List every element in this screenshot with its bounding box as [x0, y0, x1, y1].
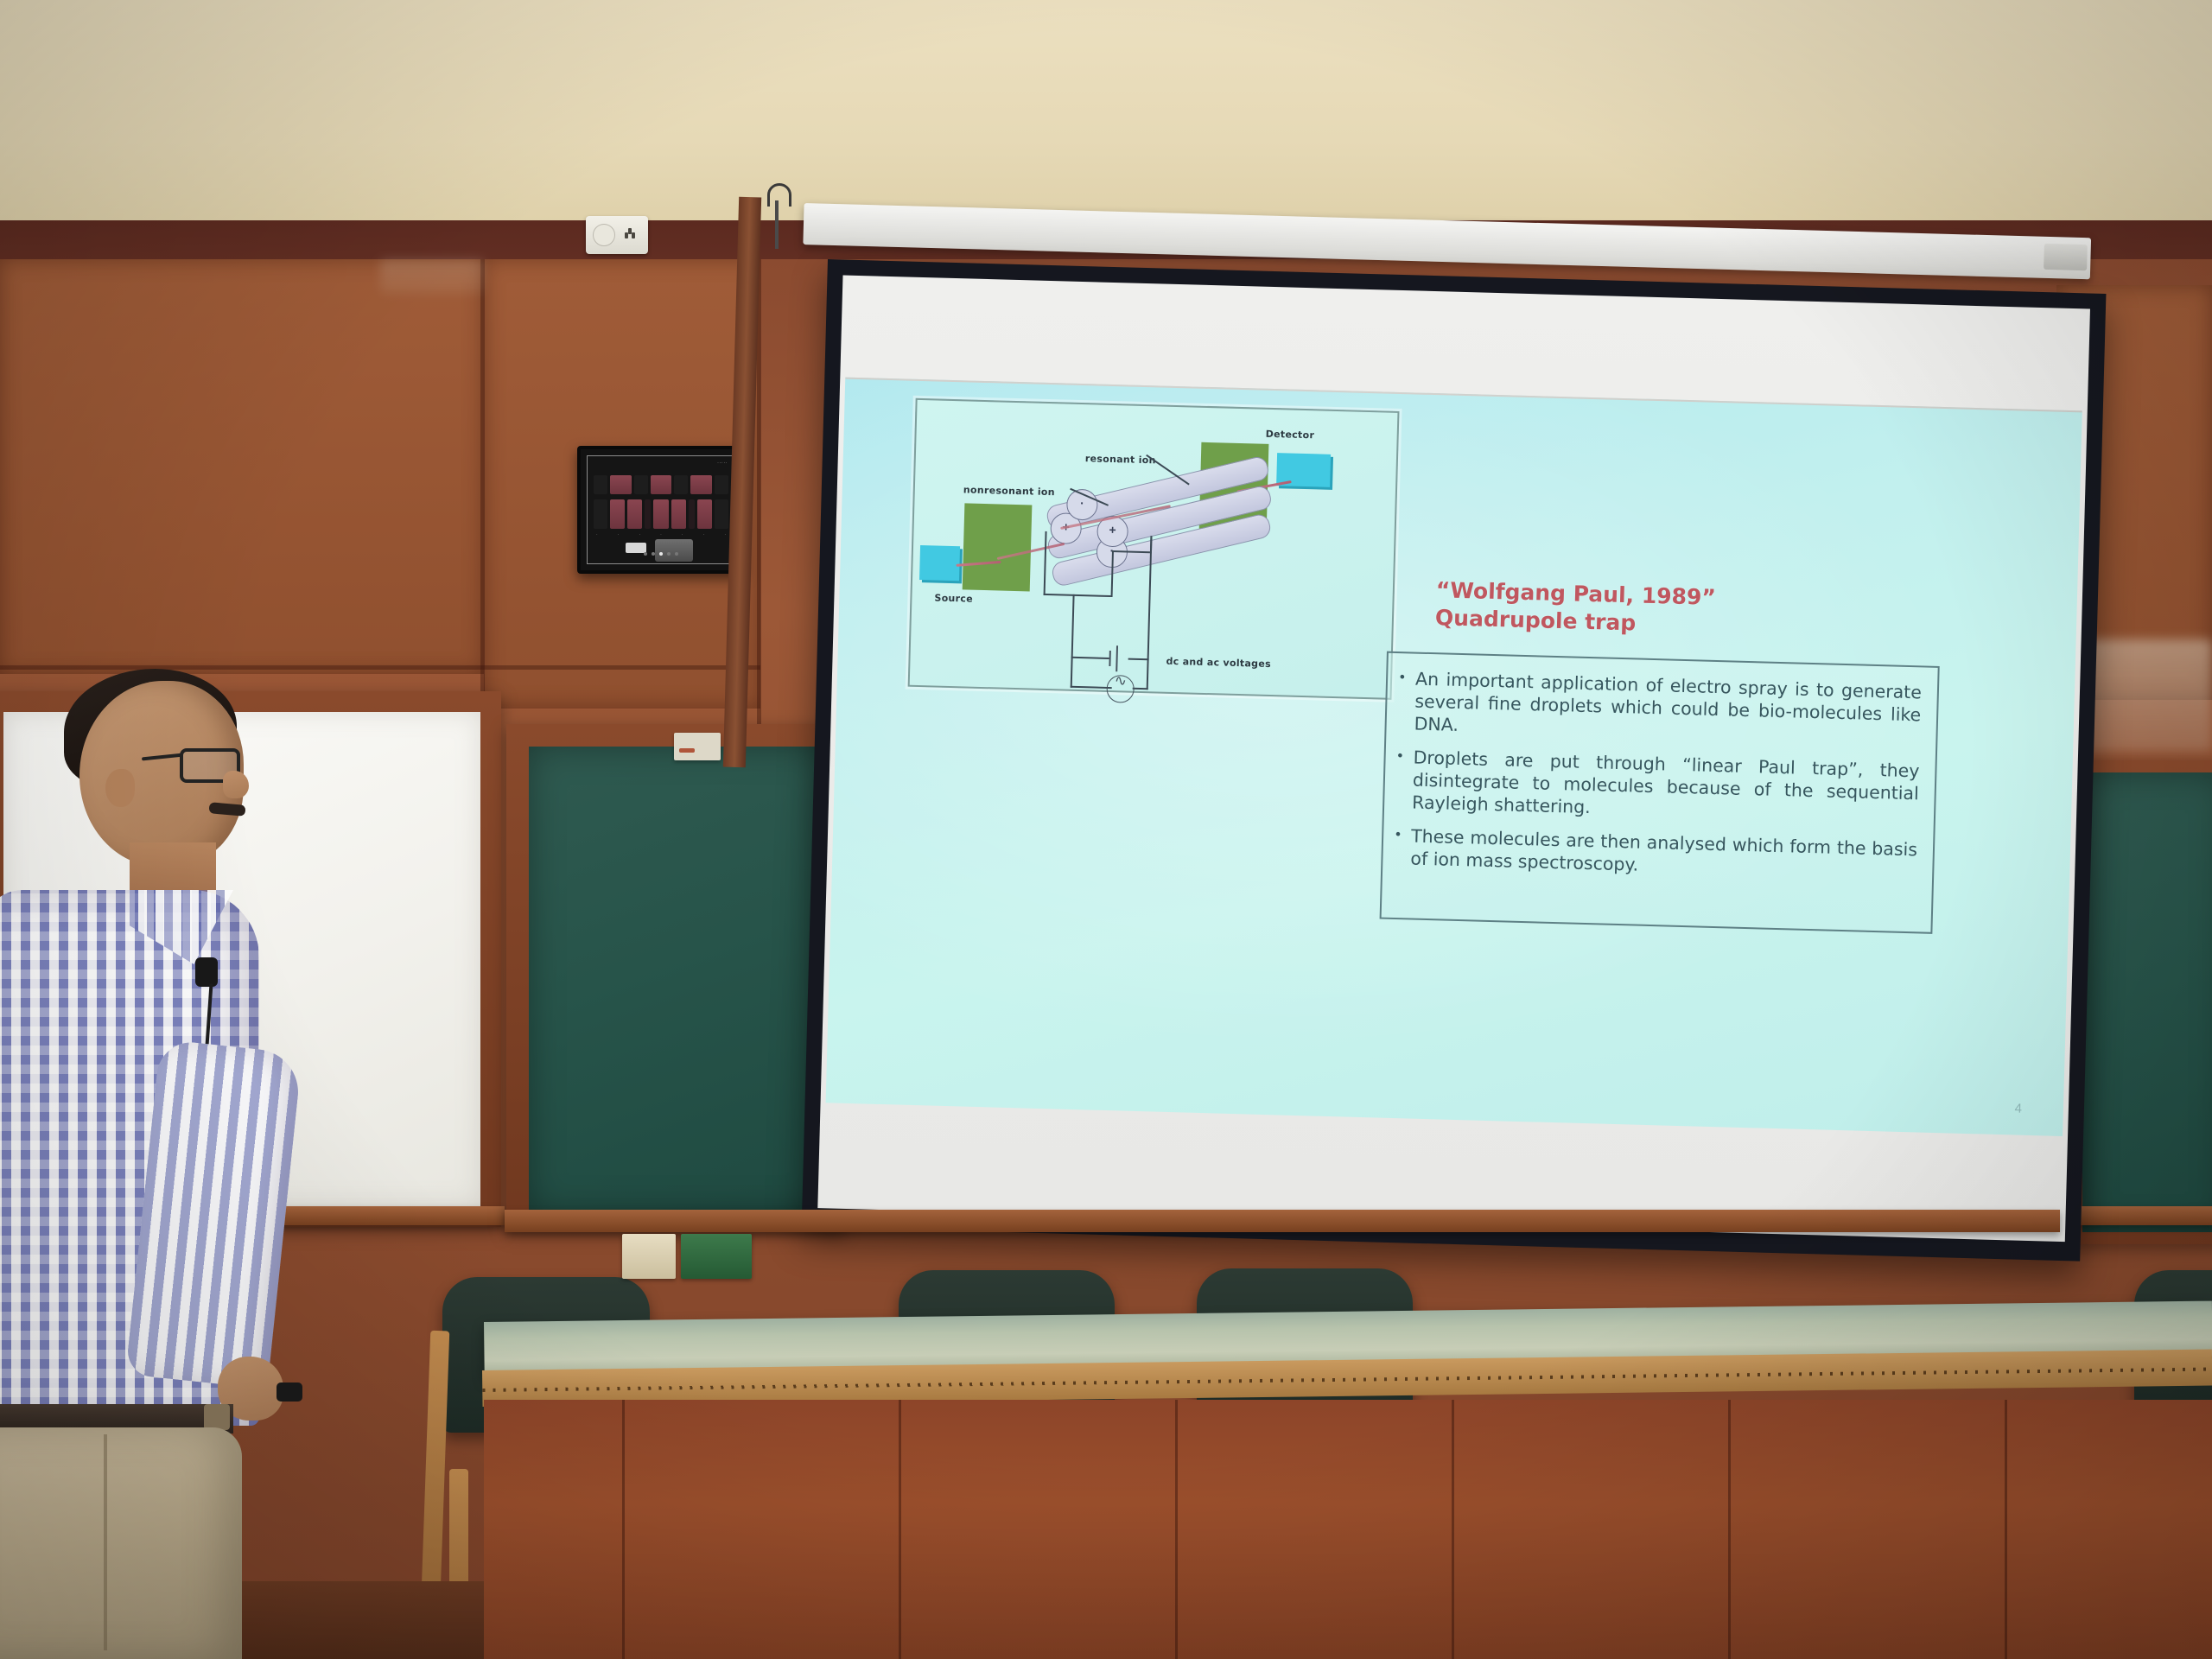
timer-main-button[interactable]: [655, 539, 693, 562]
podium-front: [484, 1400, 2212, 1659]
timer-panel-bezel: ····· ·······: [587, 455, 735, 564]
presentation-clicker-icon[interactable]: [276, 1382, 302, 1402]
circuit-wire-down: [1071, 594, 1075, 688]
bullet-marker: •: [1393, 824, 1402, 869]
detector-label: Detector: [1266, 429, 1315, 442]
bullet-text: Droplets are put through “linear Paul tr…: [1412, 747, 1920, 828]
circuit-wire-batt-right: [1128, 658, 1149, 660]
trouser-pleat: [104, 1434, 107, 1650]
lecture-hall-scene: ····· ·······: [0, 0, 2212, 1659]
circuit-wire-ac-right: [1133, 688, 1148, 690]
bullet-item: • These molecules are then analysed whic…: [1393, 824, 1917, 883]
wood-panel: [0, 259, 484, 674]
source-label: Source: [934, 592, 973, 604]
socket-round-hole: [593, 224, 615, 246]
bullet-item: • An important application of electro sp…: [1396, 667, 1922, 748]
projected-slide: Detector + · · + Source: [826, 378, 2082, 1136]
timer-button-labels: ·······: [596, 532, 726, 537]
timer-display-row-top: [594, 475, 728, 494]
projection-screen-surface: Detector + · · + Source: [817, 275, 2090, 1242]
bullet-marker: •: [1396, 667, 1407, 734]
slide-title: “Wolfgang Paul, 1989” Quadrupole trap: [1435, 576, 1800, 641]
slide-bullet-box: • An important application of electro sp…: [1380, 652, 1940, 934]
timer-brand-text: ·····: [717, 461, 728, 466]
bullet-text: These molecules are then analysed which …: [1410, 825, 1917, 884]
chalkboard-right-surface[interactable]: [2082, 772, 2212, 1232]
slide-page-number: 4: [2014, 1102, 2022, 1116]
board-ledge: [505, 1210, 2060, 1232]
digital-timer-panel[interactable]: ····· ·······: [577, 446, 745, 574]
presenter-ear: [105, 769, 135, 807]
screen-hanger-hook: [767, 183, 778, 244]
circuit-wire-ac-left: [1071, 686, 1112, 689]
nonresonant-ion-label: nonresonant ion: [963, 484, 1055, 498]
upper-wall: [0, 0, 2212, 233]
presenter-belt-buckle: [204, 1404, 230, 1430]
ac-source-symbol: [1106, 675, 1135, 703]
chalkboard-right-frame: [2070, 760, 2212, 1244]
bullet-text: An important application of electro spra…: [1414, 668, 1922, 749]
worn-wood-patch: [380, 259, 484, 294]
panel-seam: [0, 665, 760, 670]
chalkboard-left-frame: [506, 724, 845, 1230]
presenter-trousers: [0, 1427, 242, 1659]
circuit-wire-left: [1044, 531, 1047, 595]
bullet-marker: •: [1395, 746, 1405, 813]
battery-symbol: [1109, 645, 1130, 672]
roller-end-cap: [2044, 244, 2088, 270]
board-note-card: [674, 733, 721, 760]
projection-screen[interactable]: Detector + · · + Source: [802, 259, 2107, 1262]
presenter-nose: [223, 771, 249, 798]
bullet-item: • Droplets are put through “linear Paul …: [1395, 746, 1920, 827]
voltages-label: dc and ac voltages: [1166, 656, 1271, 670]
timer-display-row-main: [594, 499, 728, 529]
aperture-plate-source: [963, 503, 1033, 591]
ledge-box-green[interactable]: [681, 1234, 752, 1279]
ledge-box-light[interactable]: [622, 1234, 676, 1279]
circuit-wire-bottom-left: [1044, 594, 1111, 597]
lapel-microphone-icon: [195, 957, 218, 987]
source-box: [919, 545, 960, 581]
socket-pin-holes: [624, 228, 638, 240]
quadrupole-trap-diagram: Detector + · · + Source: [908, 398, 1400, 700]
circuit-wire-batt-left: [1071, 657, 1109, 659]
power-socket[interactable]: [586, 216, 648, 254]
chalkboard-left-surface[interactable]: [529, 747, 828, 1213]
presenter: [0, 674, 372, 1659]
timer-indicator-dots: [644, 552, 678, 556]
